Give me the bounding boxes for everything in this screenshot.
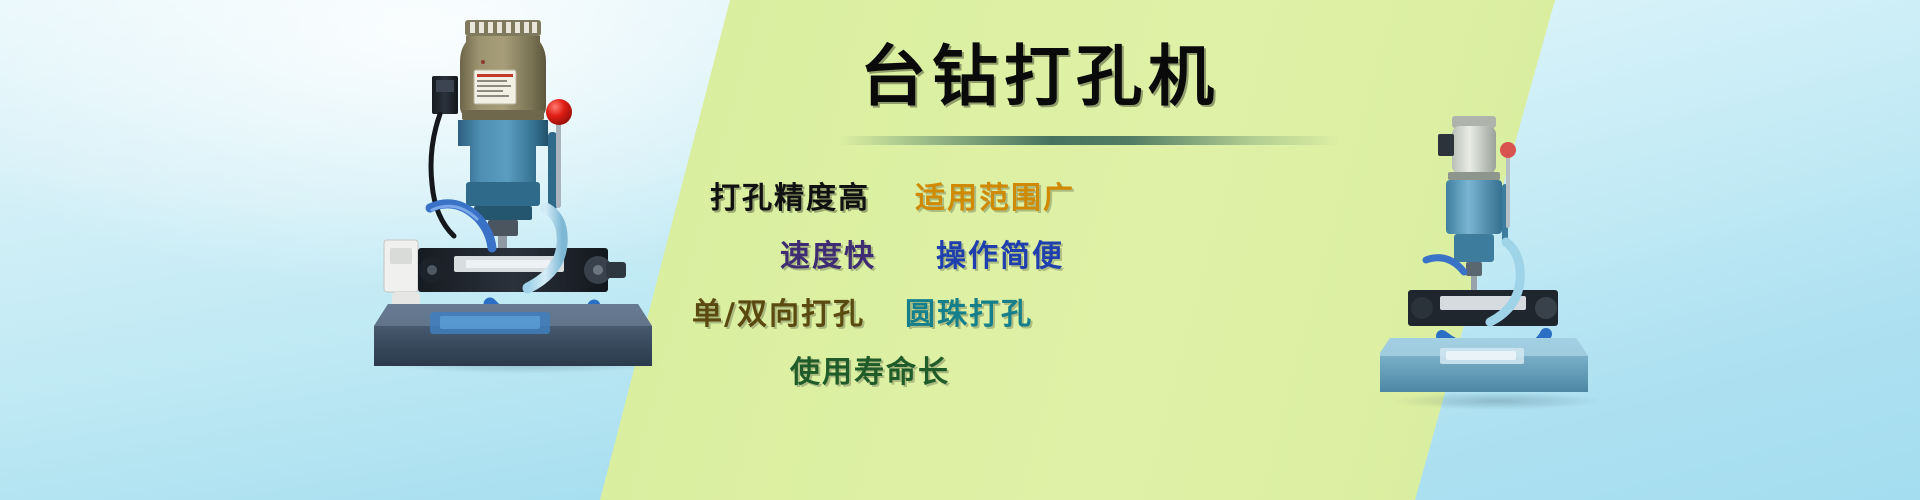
feature-row-2: 速度快 操作简便 [660,240,1380,274]
feature-row-3: 单/双向打孔 圆珠打孔 [660,298,1380,332]
title-underline [840,136,1340,145]
feature-item-single-double-drilling: 单/双向打孔 [692,298,865,332]
feature-row-1: 打孔精度高 适用范围广 [660,182,1380,216]
banner-title: 台钻打孔机 [760,40,1320,112]
feature-item-long-life: 使用寿命长 [790,356,950,390]
feature-item-ball-drilling: 圆珠打孔 [905,298,1033,332]
feature-list: 打孔精度高 适用范围广 速度快 操作简便 单/双向打孔 圆珠打孔 使用寿命长 [660,160,1380,410]
feature-item-easy-operation: 操作简便 [936,240,1064,274]
feature-item-precision: 打孔精度高 [710,182,870,216]
feature-item-wide-application: 适用范围广 [915,182,1075,216]
feature-row-4: 使用寿命长 [660,356,1380,390]
bench-drill-machine-left-image [370,12,670,392]
feature-item-fast-speed: 速度快 [780,240,876,274]
bench-drill-machine-right-image [1380,110,1610,410]
product-banner: 台钻打孔机 打孔精度高 适用范围广 速度快 操作简便 单/双向打孔 圆珠打孔 使… [0,0,1920,500]
